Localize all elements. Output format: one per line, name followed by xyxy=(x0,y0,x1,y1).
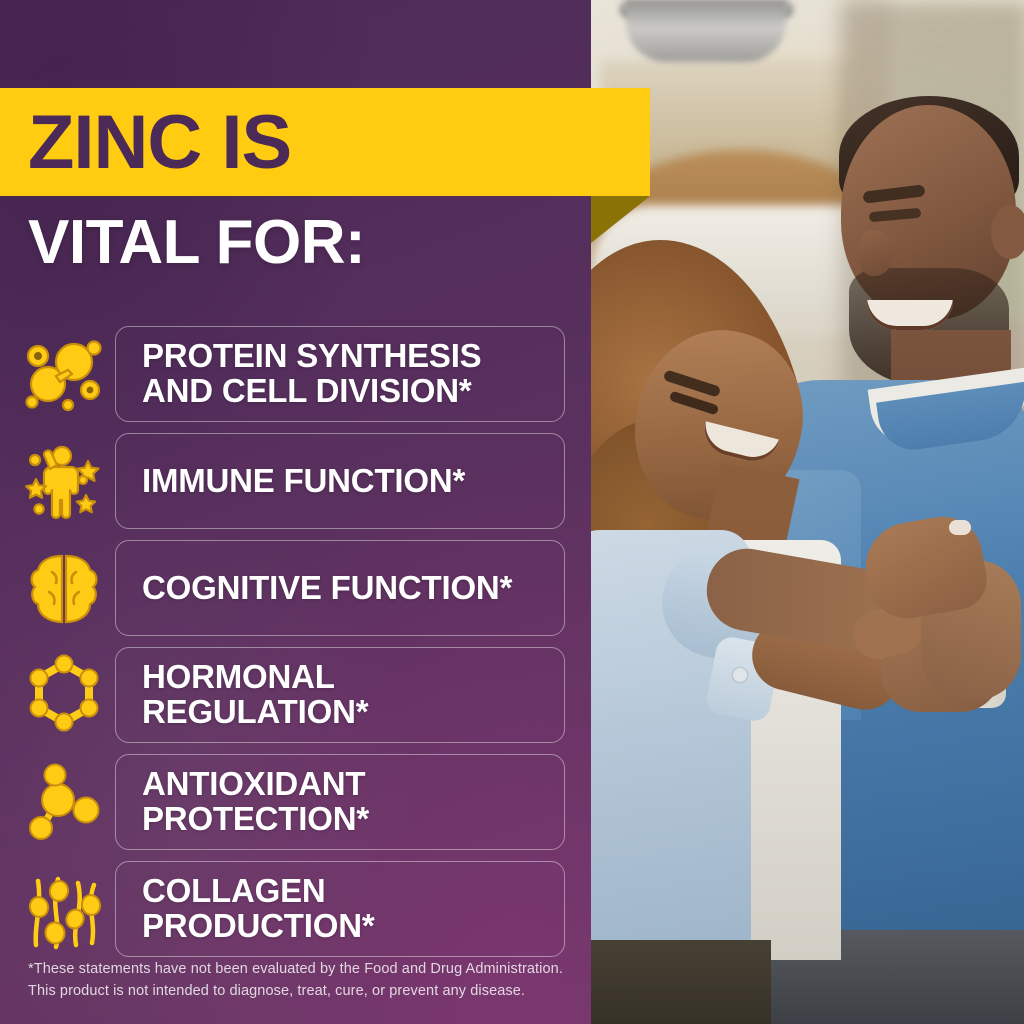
benefit-pill: COLLAGENPRODUCTION* xyxy=(115,861,565,957)
benefits-list: PROTEIN SYNTHESISAND CELL DIVISION* xyxy=(0,326,591,968)
benefit-pill: IMMUNE FUNCTION* xyxy=(115,433,565,529)
benefit-pill: PROTEIN SYNTHESISAND CELL DIVISION* xyxy=(115,326,565,422)
benefit-text: COLLAGENPRODUCTION* xyxy=(142,874,374,944)
list-item: COGNITIVE FUNCTION* xyxy=(0,540,591,636)
benefit-text: IMMUNE FUNCTION* xyxy=(142,464,465,499)
list-item: PROTEIN SYNTHESISAND CELL DIVISION* xyxy=(0,326,591,422)
cell-division-icon xyxy=(16,328,112,420)
infographic-root: ZINC IS VITAL FOR: xyxy=(0,0,1024,1024)
benefit-pill: ANTIOXIDANTPROTECTION* xyxy=(115,754,565,850)
disclaimer-line-1: *These statements have not been evaluate… xyxy=(28,958,573,980)
benefit-pill: HORMONALREGULATION* xyxy=(115,647,565,743)
immune-person-icon xyxy=(16,435,112,527)
disclaimer-line-2: This product is not intended to diagnose… xyxy=(28,980,573,1002)
lifestyle-photo xyxy=(591,0,1024,1024)
list-item: HORMONALREGULATION* xyxy=(0,647,591,743)
list-item: COLLAGENPRODUCTION* xyxy=(0,861,591,957)
benefit-text: HORMONALREGULATION* xyxy=(142,660,368,730)
collagen-fiber-icon xyxy=(16,863,112,955)
list-item: ANTIOXIDANTPROTECTION* xyxy=(0,754,591,850)
benefit-text: COGNITIVE FUNCTION* xyxy=(142,571,512,606)
benefit-pill: COGNITIVE FUNCTION* xyxy=(115,540,565,636)
molecule-icon xyxy=(16,756,112,848)
benefit-text: ANTIOXIDANTPROTECTION* xyxy=(142,767,369,837)
disclaimer: *These statements have not been evaluate… xyxy=(28,958,573,1003)
list-item: IMMUNE FUNCTION* xyxy=(0,433,591,529)
benefit-text: PROTEIN SYNTHESISAND CELL DIVISION* xyxy=(142,339,482,409)
brain-icon xyxy=(16,542,112,634)
page-title: ZINC IS xyxy=(28,96,628,190)
photo-overlay xyxy=(591,0,1024,1024)
section-heading: VITAL FOR: xyxy=(28,212,365,274)
hexagon-molecule-icon xyxy=(16,649,112,741)
